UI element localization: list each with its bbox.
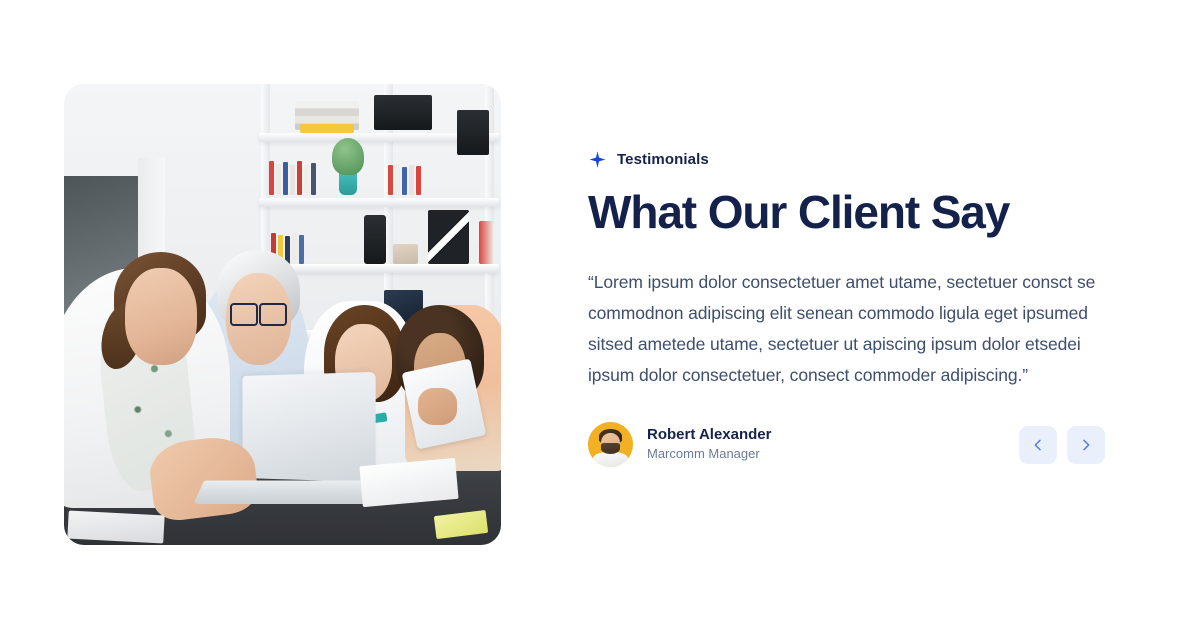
- notebook: [68, 510, 165, 543]
- prev-button[interactable]: [1019, 426, 1057, 464]
- author-text: Robert Alexander Marcomm Manager: [647, 425, 771, 464]
- carousel-nav: [1019, 426, 1105, 464]
- photo-scene: [64, 84, 501, 545]
- sparkle-icon: [588, 150, 607, 169]
- avatar-shirt: [593, 452, 627, 467]
- author-role: Marcomm Manager: [647, 445, 771, 464]
- eyebrow-label: Testimonials: [617, 151, 709, 168]
- eyebrow: Testimonials: [588, 150, 1133, 169]
- eyeglasses: [230, 303, 287, 322]
- testimonial-quote: “Lorem ipsum dolor consectetuer amet uta…: [588, 267, 1124, 392]
- laptop-screen: [242, 372, 376, 482]
- person-front-head: [125, 268, 197, 365]
- author-name: Robert Alexander: [647, 425, 771, 445]
- chevron-left-icon: [1030, 437, 1046, 453]
- avatar: [588, 422, 633, 467]
- testimonial-footer: Robert Alexander Marcomm Manager: [588, 422, 1105, 467]
- testimonial-content: Testimonials What Our Client Say “Lorem …: [588, 150, 1133, 467]
- testimonial-photo: [64, 84, 501, 545]
- next-button[interactable]: [1067, 426, 1105, 464]
- hand-holding-tablet: [418, 388, 457, 425]
- testimonials-section: Testimonials What Our Client Say “Lorem …: [0, 0, 1201, 641]
- author-block: Robert Alexander Marcomm Manager: [588, 422, 771, 467]
- chevron-right-icon: [1078, 437, 1094, 453]
- page-title: What Our Client Say: [588, 188, 1133, 238]
